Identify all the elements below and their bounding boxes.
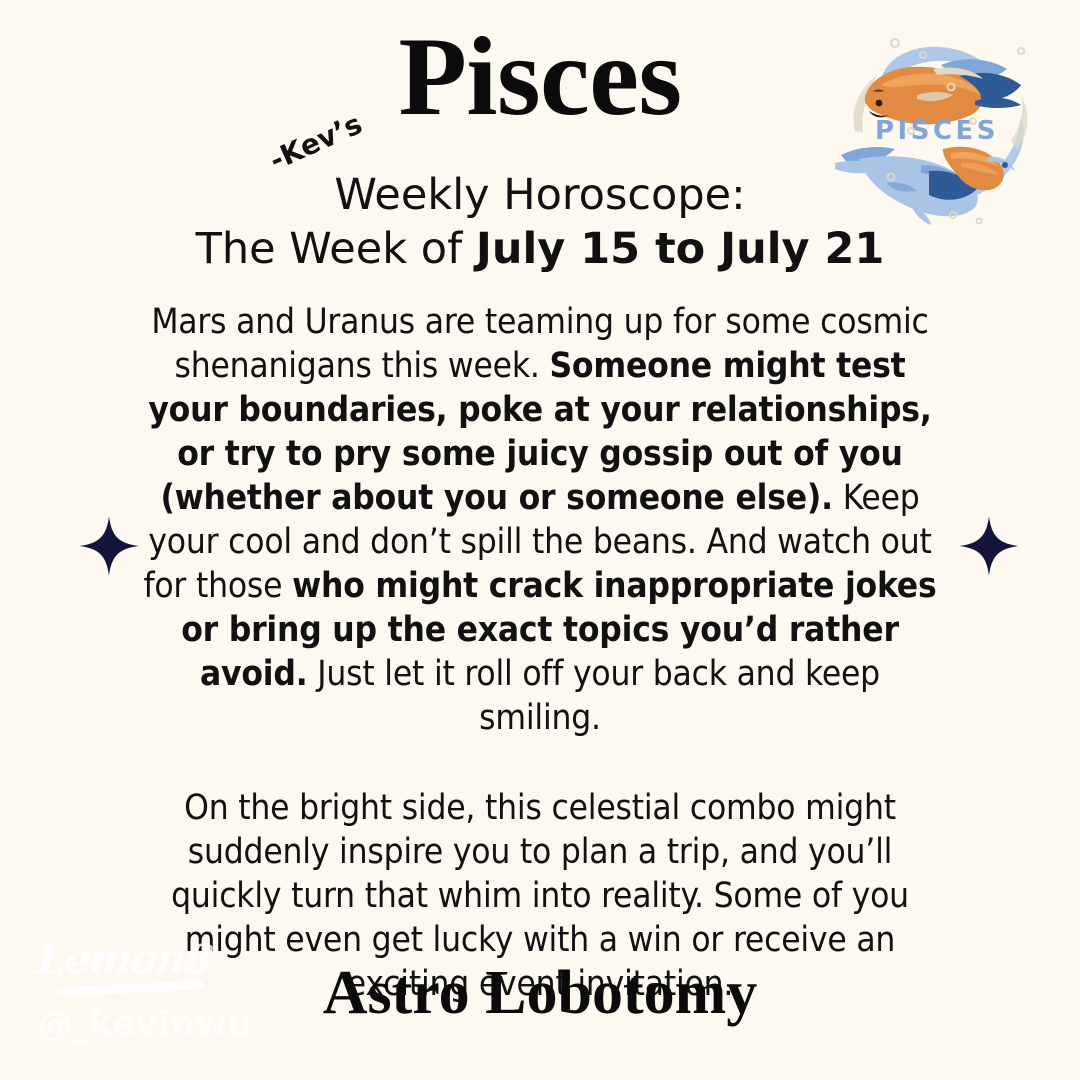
horoscope-paragraph-1: Mars and Uranus are teaming up for some … [140, 300, 940, 740]
lemon8-watermark: Lemon8 @_kevinwu [38, 938, 268, 1043]
title-block: Pisces [0, 20, 1080, 134]
sparkle-star-icon-right [958, 515, 1020, 577]
subtitle-week-prefix: The Week of [196, 224, 476, 274]
subtitle-horoscope-text: Weekly Horoscope: [334, 170, 745, 220]
subtitle-block: Weekly Horoscope: The Week of July 15 to… [0, 168, 1080, 276]
subtitle-line-horoscope: Weekly Horoscope: [0, 168, 1080, 222]
text-run: Just let it roll off your back and keep … [308, 654, 880, 738]
lemon8-user-handle: @_kevinwu [38, 1005, 268, 1043]
page-title: Pisces [0, 20, 1080, 134]
subtitle-line-dates: The Week of July 15 to July 21 [0, 222, 1080, 276]
horoscope-body: Mars and Uranus are teaming up for some … [140, 300, 940, 1006]
lemon8-logo-text: Lemon8 [35, 938, 271, 982]
subtitle-date-range: July 15 to July 21 [476, 224, 884, 274]
sparkle-star-icon-left [78, 515, 140, 577]
